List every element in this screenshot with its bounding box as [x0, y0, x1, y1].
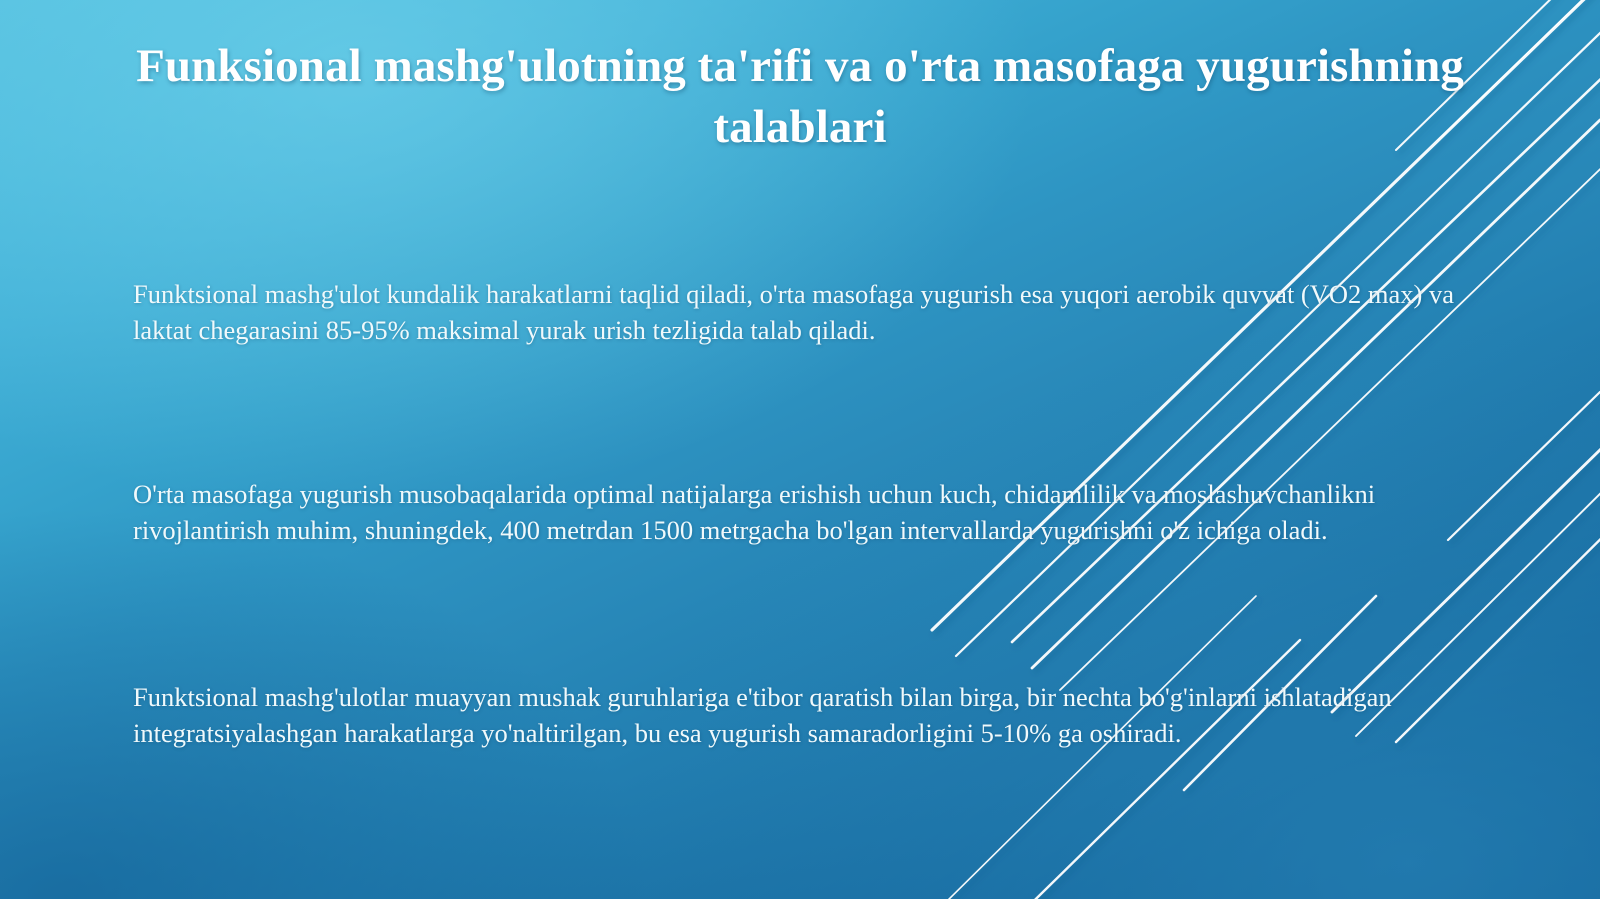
body-paragraph-2: O'rta masofaga yugurish musobaqalarida o…: [133, 476, 1473, 549]
slide-title: Funksional mashg'ulotning ta'rifi va o'r…: [100, 36, 1500, 158]
body-paragraph-3: Funktsional mashg'ulotlar muayyan mushak…: [133, 679, 1473, 752]
body-paragraph-1: Funktsional mashg'ulot kundalik harakatl…: [133, 276, 1473, 349]
slide-content: Funksional mashg'ulotning ta'rifi va o'r…: [0, 0, 1600, 899]
presentation-slide: Funksional mashg'ulotning ta'rifi va o'r…: [0, 0, 1600, 899]
